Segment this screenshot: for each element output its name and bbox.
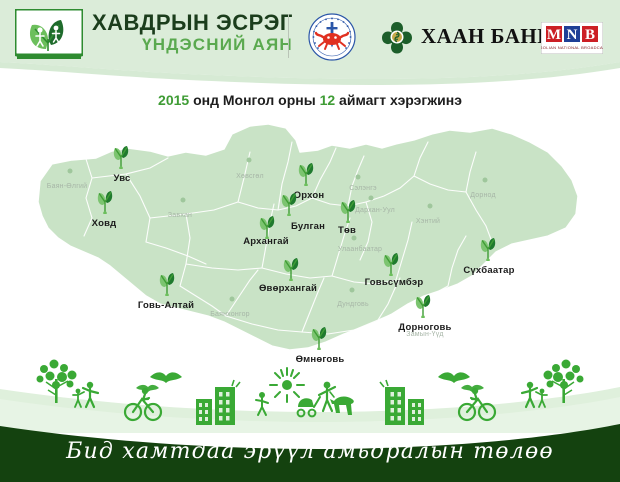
province-tree-icon [413, 292, 435, 323]
poster-root: ХАВДРЫН ЭСРЭГ ҮНДЭСНИЙ АЯН [0, 0, 620, 482]
place-label: Сэлэнгэ [349, 185, 377, 192]
place-label: Замын-Үүд [406, 331, 443, 338]
place-label: Баян-Өлгий [47, 183, 87, 190]
campaign-slogan: Бид хамтдаа эрүүл амьдралын төлөө [0, 439, 620, 464]
campaign-subtitle: ҮНДЭСНИЙ АЯН [92, 35, 293, 55]
province-label[interactable]: Архангай [243, 236, 289, 247]
place-label: Улаанбаатар [338, 246, 382, 253]
place-dot [369, 196, 374, 201]
campaign-title: ХАВДРЫН ЭСРЭГ [92, 11, 293, 35]
horse-icon [330, 392, 354, 415]
province-label[interactable]: Булган [291, 221, 325, 232]
subtitle-part1: онд Монгол орны [189, 92, 319, 108]
province-label[interactable]: Төв [338, 225, 356, 236]
header: ХАВДРЫН ЭСРЭГ ҮНДЭСНИЙ АЯН [0, 0, 620, 86]
subtitle-part2: аймагт хэрэгжинэ [335, 92, 462, 108]
campaign-title-block: ХАВДРЫН ЭСРЭГ ҮНДЭСНИЙ АЯН [92, 11, 293, 55]
province-tree-icon [279, 190, 301, 221]
mnb-logo: M N B MONGOLIAN NATIONAL BROADCASTER [541, 22, 603, 54]
place-dot [181, 198, 186, 203]
place-dot [483, 178, 488, 183]
province-label[interactable]: Ховд [92, 218, 117, 229]
place-label: Завхан [168, 212, 192, 219]
province-tree-icon [281, 255, 303, 286]
place-dot [352, 236, 357, 241]
place-dot [247, 158, 252, 163]
cancer-campaign-leaf-logo [15, 9, 83, 61]
province-label[interactable]: Өвөрхангай [259, 283, 317, 294]
province-tree-icon [478, 235, 500, 266]
subtitle-province-count: 12 [320, 92, 336, 108]
svg-text:MONGOLIAN NATIONAL BROADCASTER: MONGOLIAN NATIONAL BROADCASTER [541, 45, 603, 50]
place-dot [428, 204, 433, 209]
place-dot [350, 288, 355, 293]
svg-text:B: B [585, 27, 595, 43]
svg-text:M: M [547, 27, 561, 43]
footer-banner: Бид хамтдаа эрүүл амьдралын төлөө [0, 418, 620, 482]
province-label[interactable]: Увс [113, 173, 130, 184]
place-dot [230, 297, 235, 302]
place-label: Дорнод [470, 192, 496, 199]
place-label: Хөвсгөл [236, 173, 264, 180]
sun-icon [270, 368, 304, 402]
place-label: Дархан-Уул [355, 207, 395, 214]
province-label[interactable]: Говьсүмбэр [365, 277, 424, 288]
mongolia-map: УвсХовдОрхонБулганАрхангайТөвСүхбаатарӨв… [0, 118, 620, 368]
khaan-bank-logo [378, 18, 416, 56]
place-label: Хэнтий [416, 218, 440, 225]
subtitle-year: 2015 [158, 92, 189, 108]
province-tree-icon [95, 188, 117, 219]
province-tree-icon [157, 270, 179, 301]
svg-text:N: N [567, 27, 578, 43]
campaign-scope-subtitle: 2015 онд Монгол орны 12 аймагт хэрэгжинэ [0, 92, 620, 108]
province-tree-icon [309, 324, 331, 355]
province-tree-icon [296, 160, 318, 191]
province-label[interactable]: Сүхбаатар [463, 265, 514, 276]
province-tree-icon [111, 143, 133, 174]
province-label[interactable]: Говь-Алтай [138, 300, 194, 311]
khaan-bank-label: ХААН БАНК [421, 24, 553, 49]
place-dot [68, 169, 73, 174]
place-label: Баянхонгор [210, 311, 250, 318]
place-label: Дундговь [337, 301, 369, 308]
header-divider [288, 14, 289, 58]
mongolian-cancer-society-logo [307, 12, 357, 62]
place-dot [356, 175, 361, 180]
